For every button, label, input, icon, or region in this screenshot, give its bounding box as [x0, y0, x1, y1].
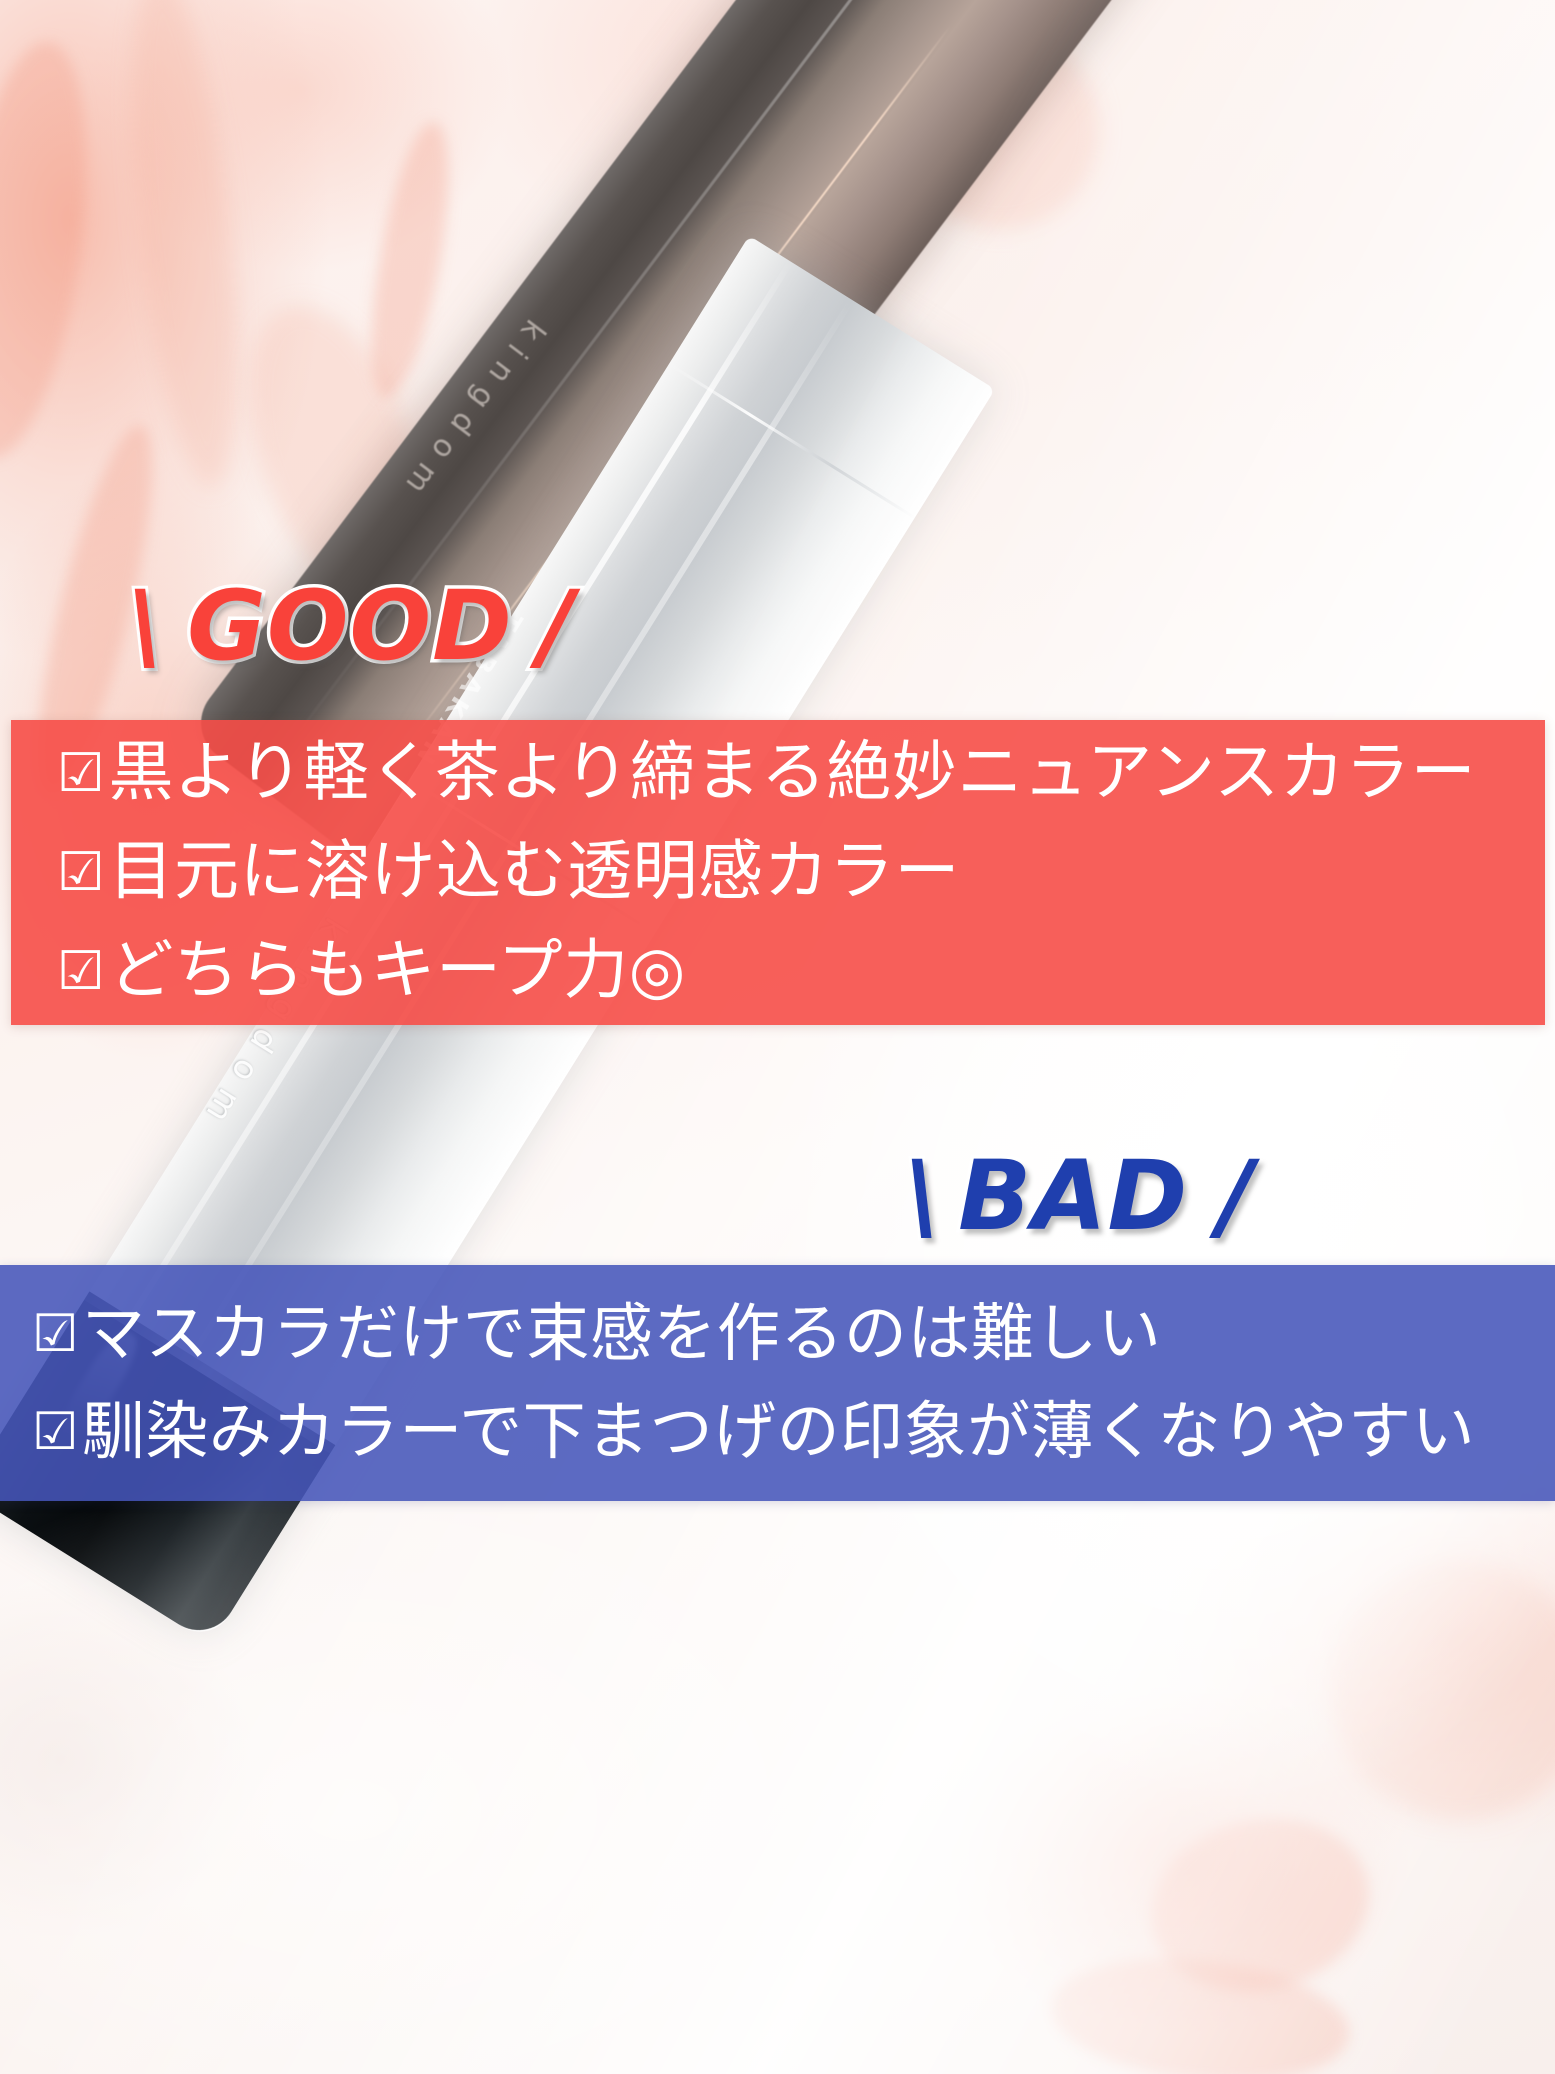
banner-slash-left-icon: \ [905, 1148, 940, 1244]
banner-slash-right-icon: / [1218, 1148, 1253, 1244]
checkbox-checked-icon: ☑ [32, 1392, 79, 1473]
poster-canvas: kingdom kingdom TABAKAN \ GOOD / ☑ 黒より軽く… [0, 0, 1555, 2074]
good-list-item: ☑ どちらもキープ力◎ [57, 922, 1545, 1021]
banner-slash-left-icon: \ [128, 578, 163, 674]
good-list-item: ☑ 目元に溶け込む透明感カラー [57, 823, 1545, 922]
bad-list-item: ☑ 馴染みカラーで下まつげの印象が薄くなりやすい [32, 1383, 1555, 1481]
product-photo-background: kingdom kingdom TABAKAN [0, 0, 1555, 2074]
bad-heading-banner: \ BAD / [905, 1148, 1253, 1244]
good-heading-banner: \ GOOD / [128, 578, 574, 674]
good-heading-label: GOOD [187, 578, 513, 674]
good-list-item-label: 目元に溶け込む透明感カラー [108, 823, 960, 922]
good-points-box: ☑ 黒より軽く茶より締まる絶妙ニュアンスカラー ☑ 目元に溶け込む透明感カラー … [11, 720, 1545, 1025]
bad-list-item: ☑ マスカラだけで束感を作るのは難しい [32, 1285, 1555, 1383]
checkbox-checked-icon: ☑ [57, 931, 105, 1012]
good-list-item-label: どちらもキープ力◎ [108, 922, 685, 1021]
photo-sheen [0, 0, 1555, 2074]
checkbox-checked-icon: ☑ [57, 832, 105, 913]
good-list-item: ☑ 黒より軽く茶より締まる絶妙ニュアンスカラー [57, 724, 1545, 823]
banner-slash-right-icon: / [539, 578, 574, 674]
checkbox-checked-icon: ☑ [57, 733, 105, 814]
bad-points-box: ☑ マスカラだけで束感を作るのは難しい ☑ 馴染みカラーで下まつげの印象が薄くな… [0, 1265, 1555, 1501]
bad-list-item-label: 馴染みカラーで下まつげの印象が薄くなりやすい [82, 1383, 1475, 1481]
bad-list-item-label: マスカラだけで束感を作るのは難しい [82, 1285, 1162, 1383]
good-list-item-label: 黒より軽く茶より締まる絶妙ニュアンスカラー [108, 724, 1476, 823]
checkbox-checked-icon: ☑ [32, 1294, 79, 1375]
bad-heading-label: BAD [958, 1148, 1188, 1244]
